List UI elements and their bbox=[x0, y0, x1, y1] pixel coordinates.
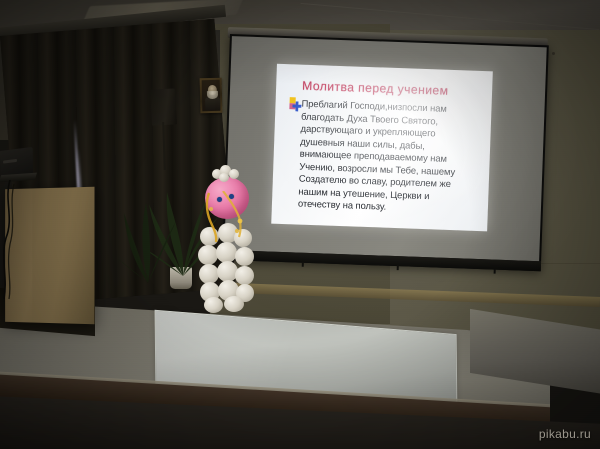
potted-plant-secondary bbox=[118, 195, 178, 285]
white-balloon bbox=[199, 264, 219, 284]
pa-speaker-icon bbox=[150, 88, 177, 125]
screen-hook bbox=[494, 269, 496, 274]
balloon-eye-left-icon bbox=[217, 197, 222, 202]
projection-screen-surface: Молитва перед учением Преблагий Господи,… bbox=[224, 36, 546, 261]
screen-hook bbox=[302, 262, 304, 267]
portrait-canvas bbox=[202, 80, 221, 111]
white-balloon bbox=[216, 242, 237, 263]
white-balloon bbox=[219, 173, 229, 182]
lectern bbox=[5, 187, 94, 325]
white-balloon bbox=[204, 297, 223, 313]
white-balloon bbox=[229, 169, 239, 179]
wall-seam bbox=[540, 263, 600, 264]
white-balloon bbox=[198, 245, 218, 265]
white-balloon bbox=[200, 227, 219, 246]
balloon-eye-right-icon bbox=[229, 194, 234, 199]
balloon-topknot bbox=[212, 165, 239, 181]
photo-scene: Молитва перед учением Преблагий Господи,… bbox=[0, 0, 600, 449]
white-balloon bbox=[234, 229, 252, 247]
framed-portrait bbox=[200, 78, 223, 113]
projection-screen: Молитва перед учением Преблагий Господи,… bbox=[222, 34, 549, 271]
laptop-brand-logo-icon bbox=[3, 159, 17, 164]
slide-body-text: Преблагий Господи,низпосли нам благодать… bbox=[298, 98, 484, 217]
plant-leaves-icon bbox=[118, 195, 178, 285]
pink-balloon-head bbox=[205, 177, 249, 219]
white-balloon bbox=[235, 266, 254, 285]
screen-hook bbox=[397, 265, 399, 270]
balloon-sculpture bbox=[198, 165, 254, 310]
slide-title: Молитва перед учением bbox=[302, 79, 480, 99]
watermark: pikabu.ru bbox=[539, 427, 591, 441]
wall-nail-mark bbox=[552, 52, 555, 55]
projected-slide: Молитва перед учением Преблагий Господи,… bbox=[271, 64, 493, 232]
white-balloon bbox=[224, 296, 244, 312]
white-balloon bbox=[235, 247, 254, 266]
lectern-front-panel bbox=[32, 187, 94, 325]
